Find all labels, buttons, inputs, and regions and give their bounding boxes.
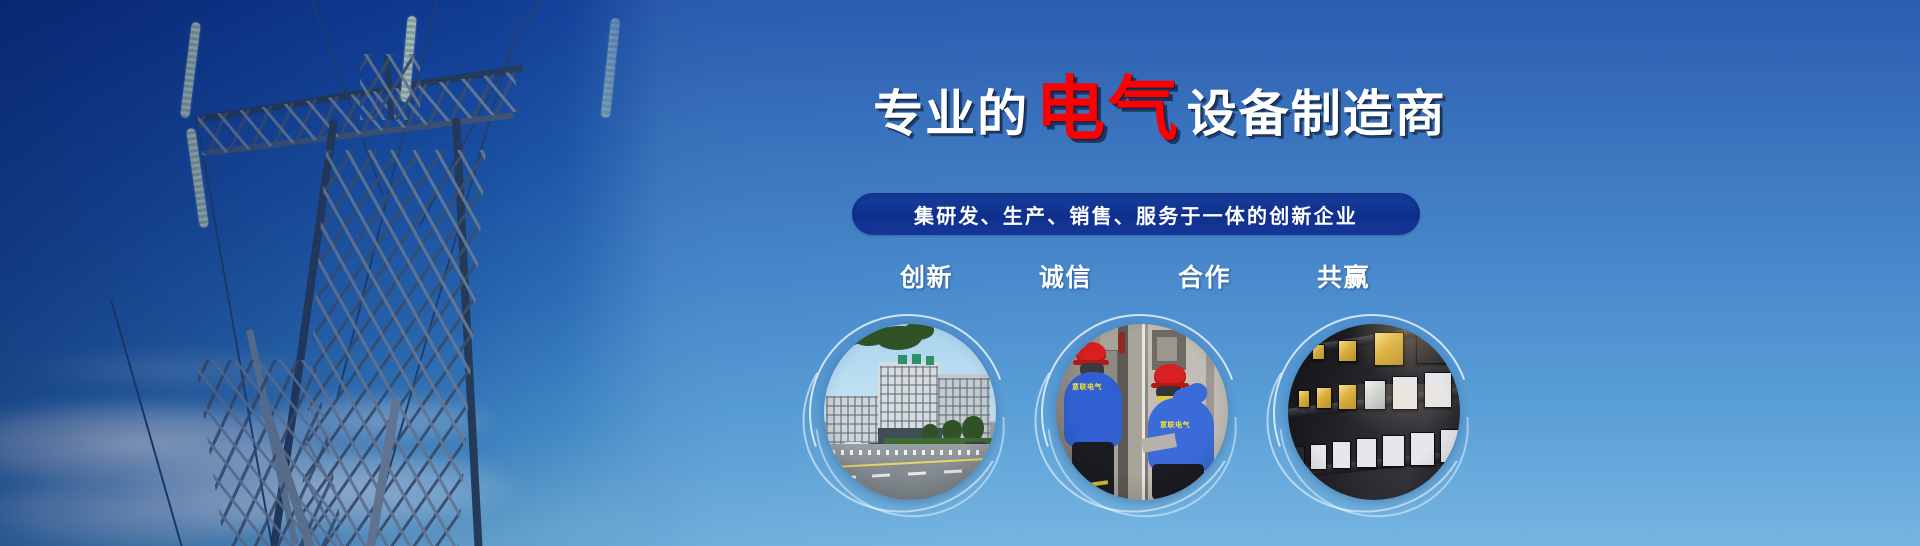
- keyword-innovation: 创新: [900, 258, 953, 294]
- building-scene: [824, 324, 996, 500]
- certificate-frame: [1410, 432, 1435, 466]
- certificate-frame: [1292, 446, 1305, 468]
- certificate-frame: [1356, 438, 1377, 468]
- worker-legs: [1152, 464, 1204, 500]
- photo-circle-workers: 意联电气 意联电气: [1050, 320, 1234, 504]
- rooftop-sign: [912, 354, 921, 364]
- certificate-frame: [1298, 390, 1310, 408]
- tagline-pill: 集研发、生产、销售、服务于一体的创新企业: [852, 193, 1420, 235]
- certificate-wall-scene: [1288, 324, 1460, 500]
- spotlight-glow: [1348, 324, 1460, 384]
- background-windows: [826, 396, 880, 448]
- rooftop-sign: [898, 355, 907, 364]
- tagline-text: 集研发、生产、销售、服务于一体的创新企业: [914, 200, 1358, 229]
- photo-circle-office-building: [818, 320, 1002, 504]
- rooftop-sign: [926, 356, 934, 365]
- keyword-winwin: 共赢: [1317, 258, 1370, 294]
- spotlight-glow: [1328, 384, 1460, 434]
- uniform-logo-text: 意联电气: [1160, 420, 1190, 430]
- worker-legs: [1072, 442, 1114, 500]
- headline-after: 设备制造商: [1187, 89, 1447, 139]
- uniform-logo-text: 意联电气: [1072, 382, 1102, 392]
- office-building-image: [824, 324, 996, 500]
- tree-canopy: [904, 324, 934, 340]
- award-plaque: [1312, 344, 1325, 360]
- keyword-cooperation: 合作: [1178, 258, 1231, 294]
- certificate-frame: [1310, 444, 1327, 470]
- red-valve: [1118, 332, 1125, 354]
- workers-image: 意联电气 意联电气: [1056, 324, 1228, 500]
- headline-highlight: 电气: [1035, 74, 1181, 144]
- certificate-frame: [1382, 435, 1405, 467]
- certificate-frame: [1440, 429, 1460, 463]
- certificate-frame: [1332, 441, 1351, 469]
- image-split-divider: [1142, 324, 1145, 500]
- equipment-box: [1156, 336, 1178, 362]
- hero-banner: 专业的 电气 设备制造商 集研发、生产、销售、服务于一体的创新企业 创新 诚信 …: [0, 0, 1920, 546]
- keyword-list: 创新 诚信 合作 共赢: [900, 255, 1370, 297]
- kerb-posts: [832, 450, 982, 455]
- headline: 专业的 电气 设备制造商: [840, 78, 1480, 150]
- headline-before: 专业的: [873, 89, 1029, 139]
- photo-circle-group: 意联电气 意联电气: [800, 320, 1480, 520]
- keyword-integrity: 诚信: [1039, 258, 1092, 294]
- certificate-wall-image: [1288, 324, 1460, 500]
- worksite-scene: 意联电气 意联电气: [1056, 324, 1228, 500]
- photo-circle-certificates: [1282, 320, 1466, 504]
